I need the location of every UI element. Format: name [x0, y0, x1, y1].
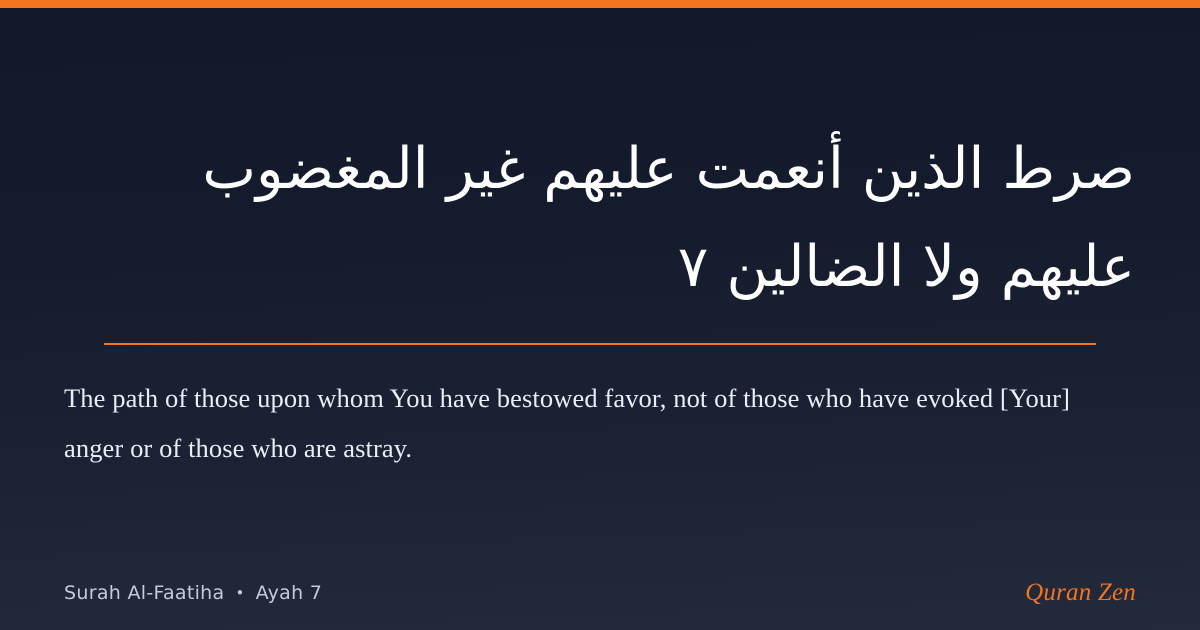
top-accent-bar: [0, 0, 1200, 8]
card-footer: Surah Al-Faatiha • Ayah 7 Quran Zen: [64, 578, 1136, 608]
arabic-verse: صرط الذين أنعمت عليهم غير المغضوب عليهم …: [64, 120, 1135, 316]
surah-name: Surah Al-Faatiha: [64, 582, 224, 604]
brand-wordmark: Quran Zen: [1025, 579, 1136, 607]
verse-reference: Surah Al-Faatiha • Ayah 7: [64, 582, 322, 604]
ayah-card: صرط الذين أنعمت عليهم غير المغضوب عليهم …: [0, 0, 1200, 630]
translation-text: The path of those upon whom You have bes…: [64, 373, 1136, 473]
ayah-number: Ayah 7: [256, 582, 323, 604]
arabic-line-1: صرط الذين أنعمت عليهم غير المغضوب: [64, 120, 1135, 218]
bullet-separator-icon: •: [235, 586, 244, 601]
accent-divider: [104, 343, 1096, 345]
arabic-line-2: عليهم ولا الضالين ٧: [64, 218, 1135, 316]
